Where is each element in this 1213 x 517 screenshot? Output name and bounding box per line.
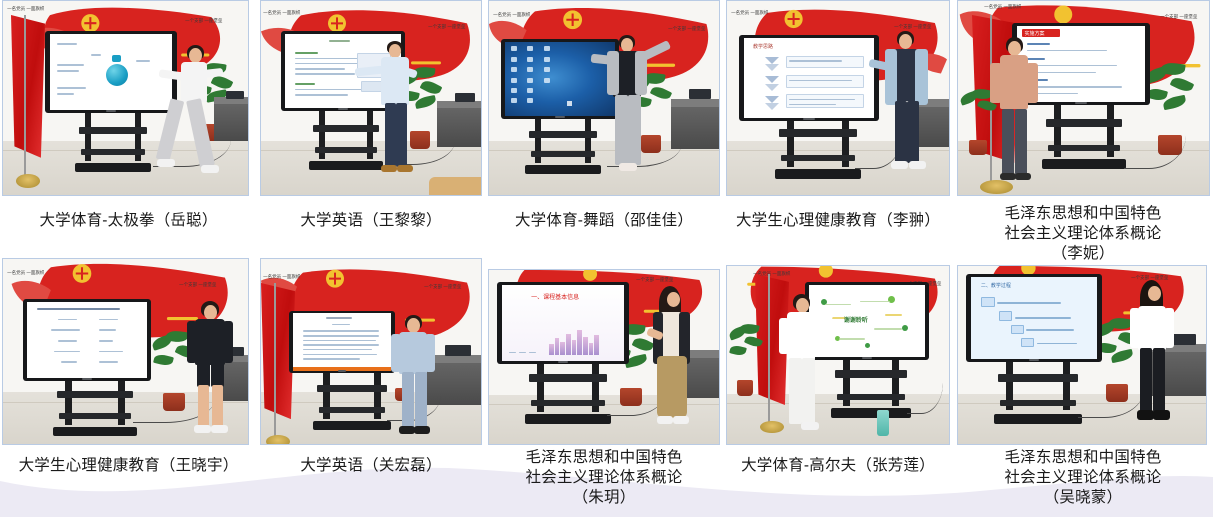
caption-1: 大学体育-太极拳（岳聪） <box>0 211 257 231</box>
mural-slogan-left: 一名党员 一面旗帜 <box>731 9 768 15</box>
screen-bezel: 二、教学过程 <box>966 274 1102 362</box>
classroom-scene-4: 一名党员 一面旗帜 一个支部 一座堡垒 教学思路 <box>727 1 949 195</box>
caption-9: 大学体育-高尔夫（张芳莲） <box>723 456 953 476</box>
screen-bezel <box>289 311 395 373</box>
mural-slogan-left: 一名党员 一面旗帜 <box>984 3 1021 9</box>
screen-bezel <box>23 299 151 381</box>
photo-thumbnail-8[interactable]: 一个支部 一座堡垒 <box>488 269 720 445</box>
classroom-scene-2: 一名党员 一面旗帜 一个支部 一座堡垒 <box>261 1 481 195</box>
gallery-row-top: 一名党员 一面旗帜 一个支部 一座堡垒 <box>0 0 1213 196</box>
teacher-figure-10 <box>1126 280 1188 440</box>
caption-8: 毛泽东思想和中国特色 社会主义理论体系概论 （朱玥） <box>485 448 723 507</box>
gallery-item-5[interactable]: 一名党员 一面旗帜 一个支部 一座堡垒 <box>953 0 1213 196</box>
national-flag <box>11 15 45 185</box>
mural-slogan-right: 一个支部 一座堡垒 <box>668 25 705 31</box>
slide-two-column-list <box>27 302 146 378</box>
teacher-figure-2 <box>367 41 437 187</box>
skyline-graphic <box>548 323 604 355</box>
mural-slogan-right: 一个支部 一座堡垒 <box>636 276 673 282</box>
teacher-figure-7 <box>391 315 449 444</box>
photo-thumbnail-2[interactable]: 一名党员 一面旗帜 一个支部 一座堡垒 <box>260 0 482 196</box>
gallery-item-8[interactable]: 一个支部 一座堡垒 <box>485 258 723 445</box>
gallery-item-10[interactable]: 一个支部 一座堡垒 <box>953 258 1213 445</box>
classroom-scene-6: 一名党员 一面旗帜 一个支部 一座堡垒 <box>3 259 248 444</box>
gallery-row-bottom: 一名党员 一面旗帜 一个支部 一座堡垒 <box>0 258 1213 445</box>
teacher-figure-3 <box>593 35 689 187</box>
classroom-scene-10: 一个支部 一座堡垒 <box>958 266 1206 444</box>
screen-bezel: 教学思路 <box>739 35 879 121</box>
caption-7: 大学英语（关宏磊） <box>257 456 485 476</box>
caption-10: 毛泽东思想和中国特色 社会主义理论体系概论 （吴晓蒙） <box>953 448 1213 507</box>
interactive-whiteboard-4[interactable]: 教学思路 <box>739 35 879 121</box>
gallery-item-7[interactable]: 一名党员 一面旗帜 一个支部 一座堡垒 <box>257 258 485 445</box>
mural-slogan-right: 一个支部 一座堡垒 <box>1160 13 1197 19</box>
classroom-scene-3: 一名党员 一面旗帜 一个支部 一座堡垒 <box>489 1 719 195</box>
photo-thumbnail-7[interactable]: 一名党员 一面旗帜 一个支部 一座堡垒 <box>260 258 482 445</box>
slide-title-5: 实施方案 <box>1025 30 1045 37</box>
caption-3: 大学体育-舞蹈（邵佳佳） <box>485 211 723 231</box>
gallery-item-6[interactable]: 一名党员 一面旗帜 一个支部 一座堡垒 <box>0 258 257 445</box>
computer-box <box>689 89 711 99</box>
interactive-whiteboard-6[interactable] <box>23 299 151 381</box>
classroom-scene-8: 一个支部 一座堡垒 <box>489 270 719 444</box>
interactive-whiteboard-7[interactable] <box>289 311 395 373</box>
mural-slogan-right: 一个支部 一座堡垒 <box>424 283 461 289</box>
slide-title-8: 一、课程基本信息 <box>531 292 579 301</box>
interactive-whiteboard-8[interactable]: 一、课程基本信息 <box>497 282 629 364</box>
mural-slogan-right: 一个支部 一座堡垒 <box>179 281 216 287</box>
mural-slogan-right: 一个支部 一座堡垒 <box>894 23 931 29</box>
slide-surface: 一、课程基本信息 <box>502 285 625 361</box>
board-trolley <box>831 360 911 420</box>
caption-4: 大学生心理健康教育（李翀） <box>723 211 953 231</box>
classroom-scene-9: 一名党员 一面旗帜 一个支部 一座堡垒 <box>727 266 949 444</box>
slide-surface: 二、教学过程 <box>971 277 1098 359</box>
photo-thumbnail-5[interactable]: 一名党员 一面旗帜 一个支部 一座堡垒 <box>957 0 1210 196</box>
board-trolley <box>775 121 861 181</box>
photo-thumbnail-1[interactable]: 一名党员 一面旗帜 一个支部 一座堡垒 <box>2 0 249 196</box>
photo-thumbnail-6[interactable]: 一名党员 一面旗帜 一个支部 一座堡垒 <box>2 258 249 445</box>
gallery-item-9[interactable]: 一名党员 一面旗帜 一个支部 一座堡垒 <box>723 258 953 445</box>
mural-slogan-right: 一个支部 一座堡垒 <box>185 17 222 23</box>
water-bottle <box>877 410 889 436</box>
mural-slogan-left: 一名党员 一面旗帜 <box>493 11 530 17</box>
mural-slogan-right: 一个支部 一座堡垒 <box>428 23 465 29</box>
gallery-item-1[interactable]: 一名党员 一面旗帜 一个支部 一座堡垒 <box>0 0 257 196</box>
teacher-figure-6 <box>183 301 245 443</box>
caption-6: 大学生心理健康教育（王晓宇） <box>0 456 257 476</box>
teacher-figure-9 <box>779 294 841 444</box>
slide-title-4: 教学思路 <box>753 43 773 50</box>
computer-box <box>455 93 475 102</box>
photo-gallery: 一名党员 一面旗帜 一个支部 一座堡垒 <box>0 0 1213 517</box>
slide-title-10: 二、教学过程 <box>981 282 1011 289</box>
mural-slogan-left: 一名党员 一面旗帜 <box>7 269 44 275</box>
screen-bezel: 一、课程基本信息 <box>497 282 629 364</box>
board-trolley <box>53 381 137 439</box>
gallery-item-2[interactable]: 一名党员 一面旗帜 一个支部 一座堡垒 <box>257 0 485 196</box>
photo-thumbnail-10[interactable]: 一个支部 一座堡垒 <box>957 265 1207 445</box>
classroom-scene-1: 一名党员 一面旗帜 一个支部 一座堡垒 <box>3 1 248 195</box>
slide-cascading-cards: 二、教学过程 <box>971 277 1098 359</box>
globe-icon <box>106 64 128 86</box>
teacher-figure-5 <box>990 37 1050 193</box>
gallery-item-3[interactable]: 一名党员 一面旗帜 一个支部 一座堡垒 <box>485 0 723 196</box>
classroom-scene-7: 一名党员 一面旗帜 一个支部 一座堡垒 <box>261 259 481 444</box>
board-trolley <box>994 362 1082 424</box>
teacher-figure-4 <box>877 31 943 187</box>
caption-5: 毛泽东思想和中国特色 社会主义理论体系概论 （李妮） <box>953 204 1213 263</box>
gallery-item-4[interactable]: 一名党员 一面旗帜 一个支部 一座堡垒 教学思路 <box>723 0 953 196</box>
teacher-figure-8 <box>645 286 707 442</box>
photo-thumbnail-3[interactable]: 一名党员 一面旗帜 一个支部 一座堡垒 <box>488 0 720 196</box>
board-trolley <box>525 119 601 177</box>
photo-thumbnail-4[interactable]: 一名党员 一面旗帜 一个支部 一座堡垒 教学思路 <box>726 0 950 196</box>
slide-surface: 教学思路 <box>744 38 874 118</box>
photo-thumbnail-9[interactable]: 一名党员 一面旗帜 一个支部 一座堡垒 <box>726 265 950 445</box>
board-trolley <box>1042 105 1126 173</box>
mural-slogan-left: 一名党员 一面旗帜 <box>263 273 300 279</box>
slide-thanks-text: 谢谢聆听 <box>844 315 868 324</box>
board-trolley <box>313 373 391 433</box>
mural-slogan-left: 一名党员 一面旗帜 <box>7 5 44 11</box>
board-trolley <box>525 364 611 426</box>
slide-dense-paragraph <box>293 313 392 371</box>
board-trolley <box>75 113 151 175</box>
interactive-whiteboard-10[interactable]: 二、教学过程 <box>966 274 1102 362</box>
long-skirt <box>657 356 687 418</box>
mural-slogan-left: 一名党员 一面旗帜 <box>263 9 300 15</box>
slide-surface <box>293 313 392 371</box>
potted-plant-left <box>727 324 763 396</box>
slide-course-info: 一、课程基本信息 <box>502 285 625 361</box>
slide-surface <box>27 302 146 378</box>
classroom-scene-5: 一名党员 一面旗帜 一个支部 一座堡垒 <box>958 1 1209 195</box>
wooden-table <box>429 177 481 195</box>
teacher-figure-1 <box>153 45 237 189</box>
caption-2: 大学英语（王黎黎） <box>257 211 485 231</box>
slide-chevron-list: 教学思路 <box>744 38 874 118</box>
